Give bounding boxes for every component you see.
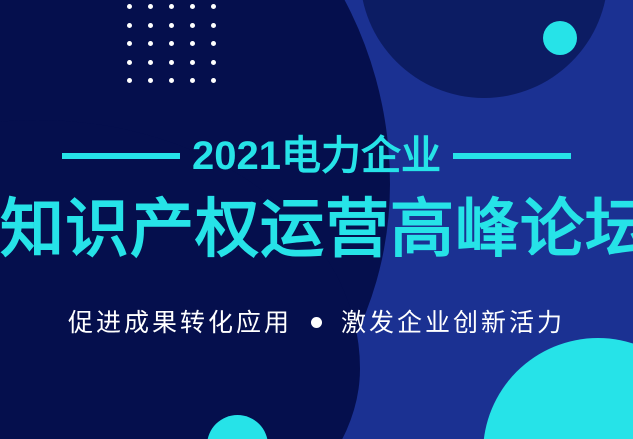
poster-title-line-1: 2021电力企业 [192,136,441,176]
rule-left [62,153,180,159]
event-poster: 2021电力企业 知识产权运营高峰论坛 促进成果转化应用 激发企业创新活力 [0,0,633,439]
rule-right [453,153,571,159]
subtitle-right-text: 激发企业创新活力 [341,303,565,339]
poster-subtitle-row: 促进成果转化应用 激发企业创新活力 [0,303,633,339]
title-line-one-row: 2021电力企业 [0,136,633,176]
subtitle-left-text: 促进成果转化应用 [68,303,292,339]
poster-title-line-2: 知识产权运营高峰论坛 [0,196,633,263]
poster-content: 2021电力企业 知识产权运营高峰论坛 促进成果转化应用 激发企业创新活力 [0,0,633,439]
bullet-dot-icon [311,317,322,328]
